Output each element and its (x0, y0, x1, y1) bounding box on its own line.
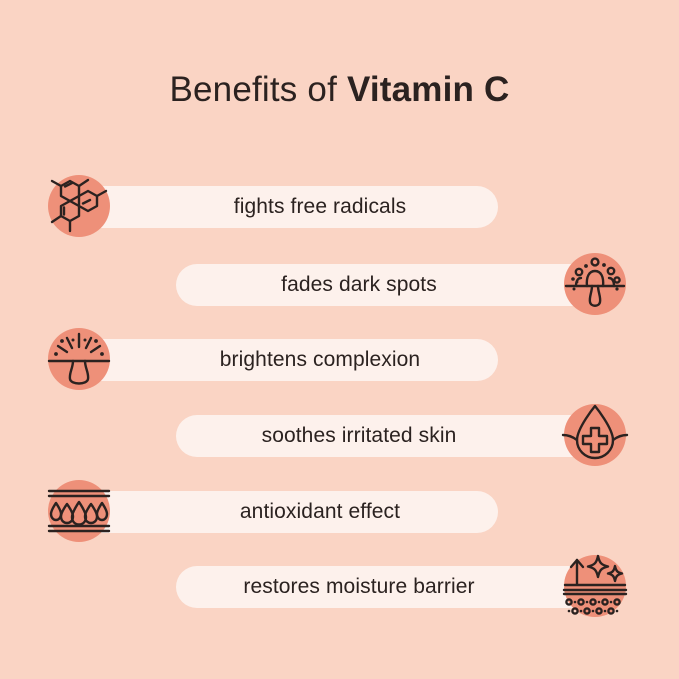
benefit-icon-bg-3 (48, 328, 110, 390)
benefit-row-4: soothes irritated skin (0, 394, 679, 480)
benefit-pill-4[interactable]: soothes irritated skin (176, 415, 600, 457)
benefit-row-1: fights free radicals (0, 165, 679, 251)
page-title-prefix: Benefits of (169, 70, 347, 109)
benefit-icon-bg-1 (48, 175, 110, 237)
benefit-icon-bg-6 (564, 555, 626, 617)
benefit-row-6: restores moisture barrier (0, 545, 679, 631)
page-title-highlight: Vitamin C (347, 70, 510, 109)
benefit-pill-3[interactable]: brightens complexion (80, 339, 498, 381)
benefit-label-1: fights free radicals (234, 186, 406, 228)
infographic-poster: Benefits of Vitamin C fights free radica… (0, 0, 679, 679)
benefit-row-3: brightens complexion (0, 318, 679, 404)
benefit-row-2: fades dark spots (0, 243, 679, 329)
benefit-label-4: soothes irritated skin (262, 415, 457, 457)
benefit-label-2: fades dark spots (281, 264, 437, 306)
page-title: Benefits of Vitamin C (0, 68, 679, 112)
benefit-row-5: antioxidant effect (0, 470, 679, 556)
benefit-pill-2[interactable]: fades dark spots (176, 264, 600, 306)
benefit-pill-6[interactable]: restores moisture barrier (176, 566, 600, 608)
benefit-pill-1[interactable]: fights free radicals (80, 186, 498, 228)
benefit-icon-bg-5 (48, 480, 110, 542)
benefit-label-3: brightens complexion (220, 339, 420, 381)
benefit-label-6: restores moisture barrier (243, 566, 474, 608)
benefit-pill-5[interactable]: antioxidant effect (80, 491, 498, 533)
benefit-label-5: antioxidant effect (240, 491, 400, 533)
benefit-icon-bg-4 (564, 404, 626, 466)
benefit-icon-bg-2 (564, 253, 626, 315)
